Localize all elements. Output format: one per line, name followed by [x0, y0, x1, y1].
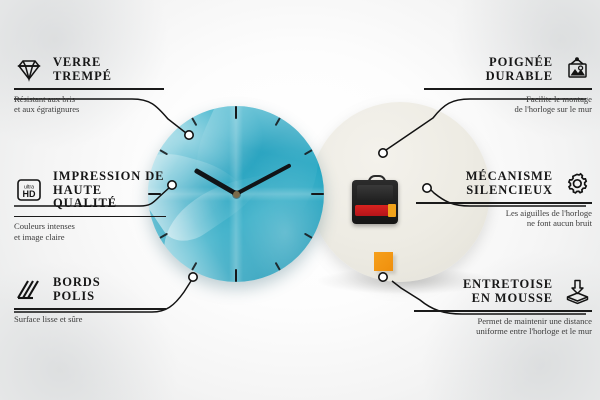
feature-header: BORDS POLIS	[14, 276, 166, 303]
clock-tick	[236, 193, 324, 195]
feature-title: MÉCANISME SILENCIEUX	[466, 170, 553, 197]
feature-header: POIGNÉE DURABLE	[424, 56, 592, 83]
feature-subtitle: Permet de maintenir une distance uniform…	[414, 316, 592, 337]
feature-title: BORDS POLIS	[53, 276, 101, 303]
mechanism-detail	[357, 185, 393, 200]
feature-title: ENTRETOISE EN MOUSSE	[463, 278, 553, 305]
diamond-icon	[14, 57, 44, 83]
clock-tick	[235, 194, 237, 282]
feature-divider	[14, 308, 166, 310]
feature-divider	[14, 216, 166, 218]
feature-bords-polis[interactable]: BORDS POLIS Surface lisse et sûre	[14, 276, 166, 324]
svg-text:HD: HD	[23, 189, 36, 199]
feature-title: VERRE TREMPÉ	[53, 56, 112, 83]
feature-subtitle: Facilite le montage de l'horloge sur le …	[424, 94, 592, 115]
picture-hanger-icon	[562, 57, 592, 83]
feature-header: ultra HD IMPRESSION DE HAUTE QUALITÉ	[14, 170, 166, 211]
feature-poignee-durable[interactable]: POIGNÉE DURABLE Facilite le montage de l…	[424, 56, 592, 114]
feature-divider	[424, 88, 592, 90]
feature-header: VERRE TREMPÉ	[14, 56, 164, 83]
clock-center-cap	[233, 191, 240, 198]
gear-icon	[562, 171, 592, 197]
feature-entretoise-en-mousse[interactable]: ENTRETOISE EN MOUSSE Permet de maintenir…	[414, 278, 592, 336]
clock-mechanism-box	[352, 180, 398, 224]
feature-subtitle: Couleurs intenses et image claire	[14, 221, 166, 242]
feature-divider	[416, 202, 592, 204]
feature-divider	[14, 88, 164, 90]
feature-header: MÉCANISME SILENCIEUX	[416, 170, 592, 197]
feature-impression-haute-qualite[interactable]: ultra HD IMPRESSION DE HAUTE QUALITÉ Cou…	[14, 170, 166, 242]
ultra-hd-badge-icon: ultra HD	[14, 177, 44, 203]
feature-verre-trempe[interactable]: VERRE TREMPÉ Résistant aux bris et aux é…	[14, 56, 164, 114]
foam-spacer	[374, 252, 393, 271]
feature-divider	[414, 310, 592, 312]
feature-header: ENTRETOISE EN MOUSSE	[414, 278, 592, 305]
infographic-canvas: VERRE TREMPÉ Résistant aux bris et aux é…	[0, 0, 600, 400]
feature-subtitle: Résistant aux bris et aux égratignures	[14, 94, 164, 115]
foam-spacer-icon	[562, 279, 592, 305]
battery-positive-terminal	[388, 204, 396, 217]
feature-title: IMPRESSION DE HAUTE QUALITÉ	[53, 170, 166, 211]
feature-title: POIGNÉE DURABLE	[486, 56, 553, 83]
feature-subtitle: Les aiguilles de l'horloge ne font aucun…	[416, 208, 592, 229]
feature-subtitle: Surface lisse et sûre	[14, 314, 166, 324]
front-clock-dial	[148, 106, 324, 282]
feature-mecanisme-silencieux[interactable]: MÉCANISME SILENCIEUX Les aiguilles de l'…	[416, 170, 592, 228]
polished-edges-icon	[14, 277, 44, 303]
clock-tick	[235, 106, 237, 194]
